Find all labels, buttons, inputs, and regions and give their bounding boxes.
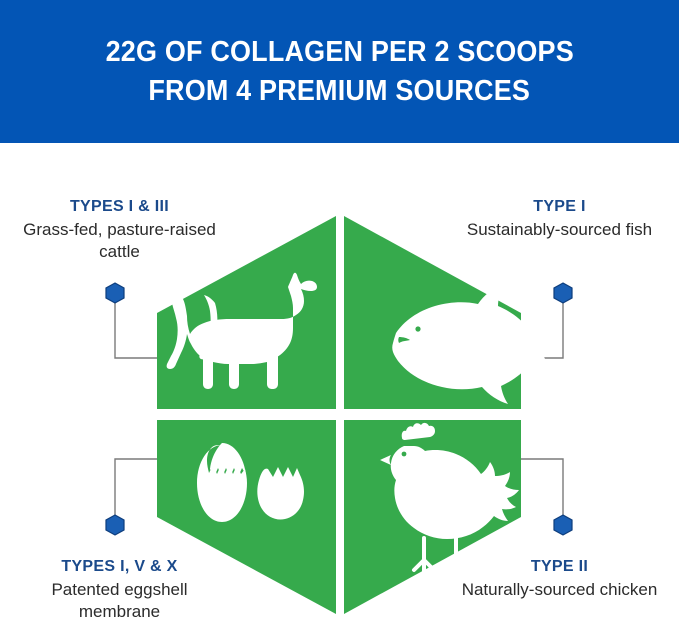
callout-title-cattle: TYPES I & III bbox=[12, 196, 227, 218]
callout-fish: TYPE I Sustainably-sourced fish bbox=[452, 196, 667, 241]
callout-description-eggshell: Patented eggshell membrane bbox=[12, 579, 227, 623]
hexagon-panels bbox=[157, 216, 521, 614]
connector-line-chicken bbox=[518, 459, 563, 525]
hexagon-marker-chicken bbox=[554, 515, 572, 535]
callout-cattle: TYPES I & III Grass-fed, pasture-raised … bbox=[12, 196, 227, 263]
callout-description-cattle: Grass-fed, pasture-raised cattle bbox=[12, 219, 227, 263]
callout-description-fish: Sustainably-sourced fish bbox=[452, 219, 667, 241]
callout-title-eggshell: TYPES I, V & X bbox=[12, 556, 227, 578]
connector-line-cattle bbox=[115, 293, 160, 358]
hexagon-marker-cattle bbox=[106, 283, 124, 303]
hexagon-marker-eggshell bbox=[106, 515, 124, 535]
connector-line-eggshell bbox=[115, 459, 160, 525]
callout-title-fish: TYPE I bbox=[452, 196, 667, 218]
collagen-sources-infographic: 22G OF COLLAGEN PER 2 SCOOPS FROM 4 PREM… bbox=[0, 0, 679, 630]
callout-description-chicken: Naturally-sourced chicken bbox=[452, 579, 667, 601]
header-title-line-2: FROM 4 PREMIUM SOURCES bbox=[149, 72, 531, 111]
callout-eggshell: TYPES I, V & X Patented eggshell membran… bbox=[12, 556, 227, 623]
header-banner: 22G OF COLLAGEN PER 2 SCOOPS FROM 4 PREM… bbox=[0, 0, 679, 143]
callout-title-chicken: TYPE II bbox=[452, 556, 667, 578]
header-title-line-1: 22G OF COLLAGEN PER 2 SCOOPS bbox=[105, 33, 573, 72]
hexagon-marker-fish bbox=[554, 283, 572, 303]
callout-chicken: TYPE II Naturally-sourced chicken bbox=[452, 556, 667, 601]
